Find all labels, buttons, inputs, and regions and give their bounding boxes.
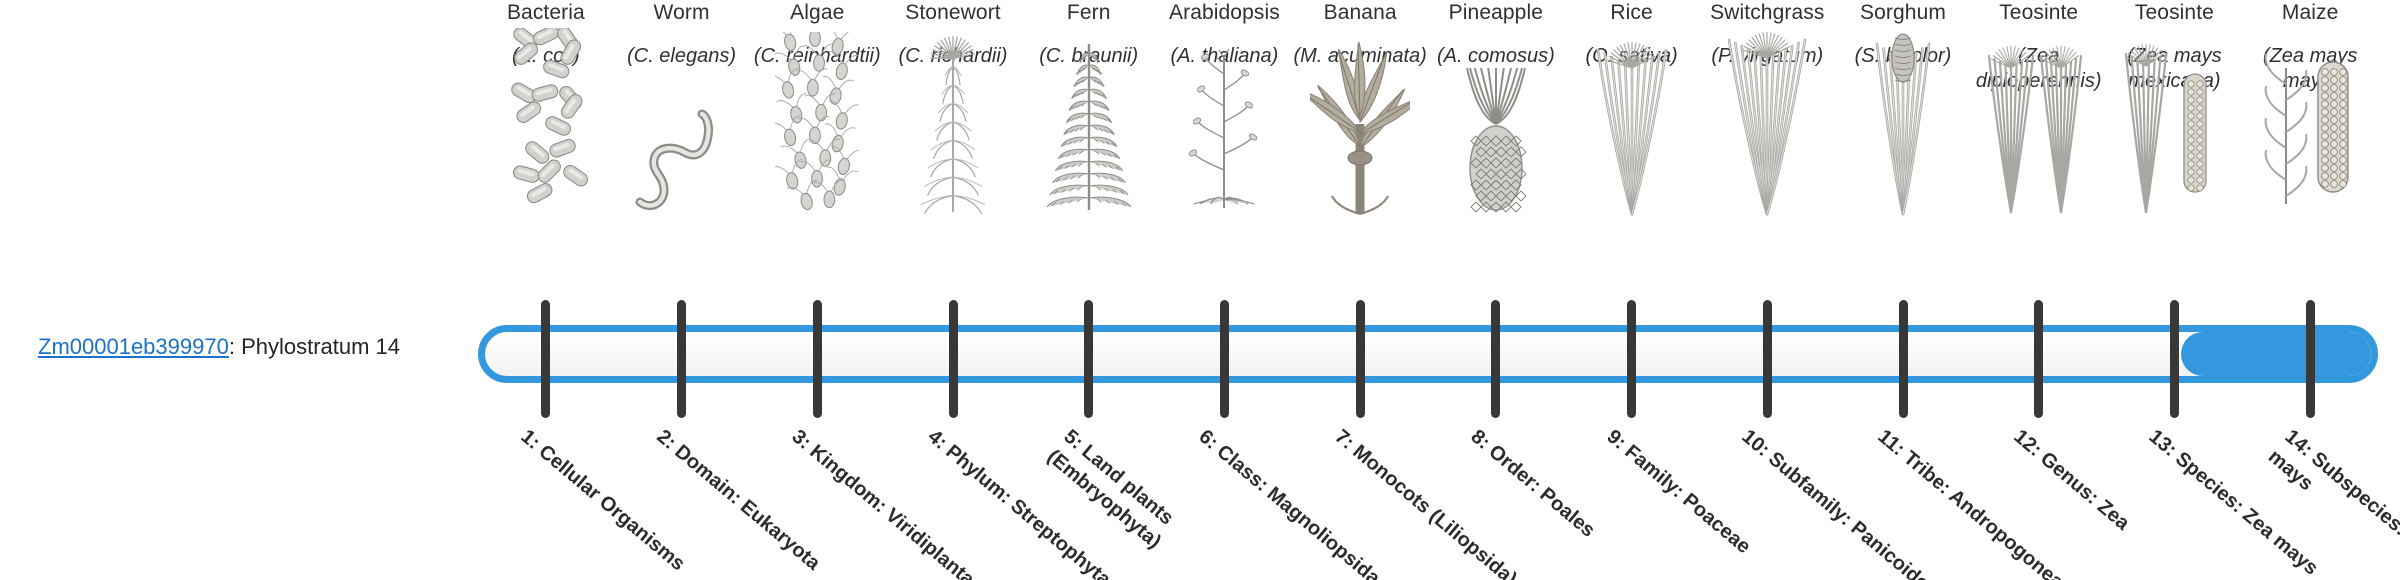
fern-frond-icon xyxy=(1022,100,1156,218)
organism-common-name: Teosinte xyxy=(2135,0,2214,30)
organism-column: Stonewort(C. richardii) xyxy=(885,0,1021,300)
stratum-name: Genus: Zea xyxy=(2036,448,2134,535)
progress-fill xyxy=(2181,332,2371,376)
organism-common-name: Switchgrass xyxy=(1710,0,1824,30)
organism-common-name: Sorghum xyxy=(1860,0,1946,30)
organism-column: Switchgrass(P. virgatum) xyxy=(1699,0,1835,300)
stratum-number: 11: xyxy=(1874,426,1909,461)
organism-column: Bacteria(E. coli) xyxy=(478,0,614,300)
stratum-number: 13: xyxy=(2145,426,2181,461)
gene-id-link[interactable]: Zm00001eb399970 xyxy=(38,334,229,359)
green-algae-cells-icon xyxy=(750,100,884,218)
phylostratum-progress-bar[interactable] xyxy=(478,325,2378,383)
organism-common-name: Teosinte xyxy=(1999,0,2078,30)
stratum-name: Family: Poaceae xyxy=(1620,441,1754,559)
organism-column: Rice(O. sativa) xyxy=(1564,0,1700,300)
organism-column: Teosinte(Zea diploperennis) xyxy=(1971,0,2107,300)
stratum-label[interactable]: 1: Cellular Organisms xyxy=(515,424,731,580)
organism-column: Worm(C. elegans) xyxy=(614,0,750,300)
organism-column: Sorghum(S. bicolor) xyxy=(1835,0,1971,300)
progress-track xyxy=(478,325,2378,383)
arabidopsis-rosette-icon xyxy=(1157,100,1291,218)
pineapple-plant-icon xyxy=(1429,100,1563,218)
organism-scientific-name: (C. elegans) xyxy=(615,44,749,96)
stonewort-alga-icon xyxy=(886,100,1020,218)
teosinte-diploperennis-icon xyxy=(1972,100,2106,218)
banana-plant-icon xyxy=(1293,100,1427,218)
organism-column: Teosinte(Zea mays mexicana) xyxy=(2106,0,2242,300)
organism-common-name: Pineapple xyxy=(1449,0,1543,30)
organism-common-name: Arabidopsis xyxy=(1169,0,1280,30)
organism-common-name: Banana xyxy=(1324,0,1397,30)
organism-common-name: Worm xyxy=(654,0,710,30)
organism-column: Maize(Zea mays mays) xyxy=(2242,0,2378,300)
stratum-number: 10: xyxy=(1738,426,1774,461)
organism-column: Pineapple(A. comosus) xyxy=(1428,0,1564,300)
organism-column: Algae(C. reinhardtii) xyxy=(749,0,885,300)
nematode-worm-icon xyxy=(615,100,749,218)
stratum-name: Cellular Organisms xyxy=(534,441,689,576)
organism-column: Arabidopsis(A. thaliana) xyxy=(1156,0,1292,300)
organism-common-name: Fern xyxy=(1067,0,1111,30)
bacteria-rods-icon xyxy=(479,100,613,218)
stratum-name: Domain: Eukaryota xyxy=(670,441,824,575)
organism-common-name: Maize xyxy=(2282,0,2339,30)
sorghum-plant-icon xyxy=(1836,100,1970,218)
stratum-number: 12: xyxy=(2009,426,2045,461)
organism-common-name: Bacteria xyxy=(507,0,585,30)
teosinte-mexicana-icon xyxy=(2107,100,2241,218)
stratum-name: Order: Poales xyxy=(1484,441,1599,542)
organism-column: Banana(M. acuminata) xyxy=(1292,0,1428,300)
rice-plant-icon xyxy=(1565,100,1699,218)
stratum-label-container: 1: Cellular Organisms2: Domain: Eukaryot… xyxy=(478,424,2378,580)
organism-common-name: Rice xyxy=(1610,0,1652,30)
maize-ear-icon xyxy=(2243,100,2377,218)
gene-label-separator: : xyxy=(229,334,241,359)
gene-phylostratum-label: Zm00001eb399970: Phylostratum 14 xyxy=(38,333,400,361)
organism-common-name: Algae xyxy=(790,0,844,30)
phylostratum-text: Phylostratum 14 xyxy=(241,334,400,359)
organism-column: Fern(C. braunii) xyxy=(1021,0,1157,300)
organism-common-name: Stonewort xyxy=(905,0,1000,30)
switchgrass-plant-icon xyxy=(1700,100,1834,218)
phylostratigraphy-figure: Bacteria(E. coli)Worm(C. elegans) Algae(… xyxy=(0,0,2400,580)
